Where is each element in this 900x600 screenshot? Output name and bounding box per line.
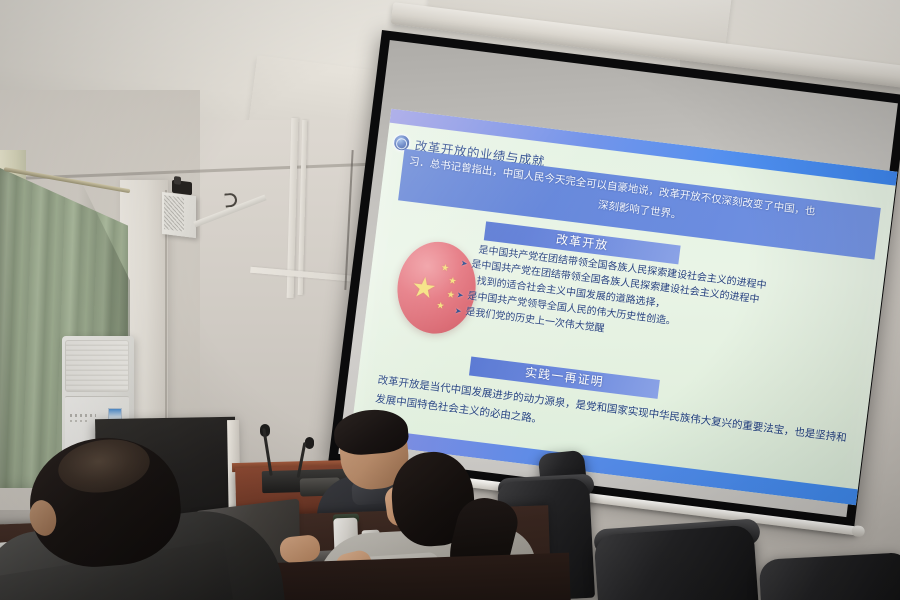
ac-text-mark <box>70 420 88 422</box>
camera-icon <box>172 180 192 195</box>
leather-chair <box>593 525 758 600</box>
ac-text-mark <box>70 414 96 417</box>
leather-chair <box>759 552 900 600</box>
flag-small-star: ★ <box>446 291 455 301</box>
bullet-arrow-icon: ➤ <box>460 256 469 273</box>
wall-speaker <box>162 192 196 238</box>
ac-grille <box>65 340 129 392</box>
flag-small-star: ★ <box>440 264 449 274</box>
meeting-room-photo: 改革开放的业绩与成就 习．总书记曾指出，中国人民今天完全可以自豪地说，改革开放不… <box>0 0 900 600</box>
bullet-arrow-icon: ➤ <box>456 288 465 305</box>
flag-small-star: ★ <box>436 302 445 312</box>
flag-big-star: ★ <box>410 273 438 304</box>
screen-frame: 改革开放的业绩与成就 习．总书记曾指出，中国人民今天完全可以自豪地说，改革开放不… <box>328 30 900 527</box>
bullet-arrow-icon: ➤ <box>454 304 463 321</box>
speaker-mesh <box>164 195 184 231</box>
screen-surface: 改革开放的业绩与成就 习．总书记曾指出，中国人民今天完全可以自豪地说，改革开放不… <box>338 40 898 517</box>
presentation-slide: 改革开放的业绩与成就 习．总书记曾指出，中国人民今天完全可以自豪地说，改革开放不… <box>350 109 898 505</box>
flag-small-star: ★ <box>448 277 457 287</box>
microphone-head <box>305 437 314 449</box>
